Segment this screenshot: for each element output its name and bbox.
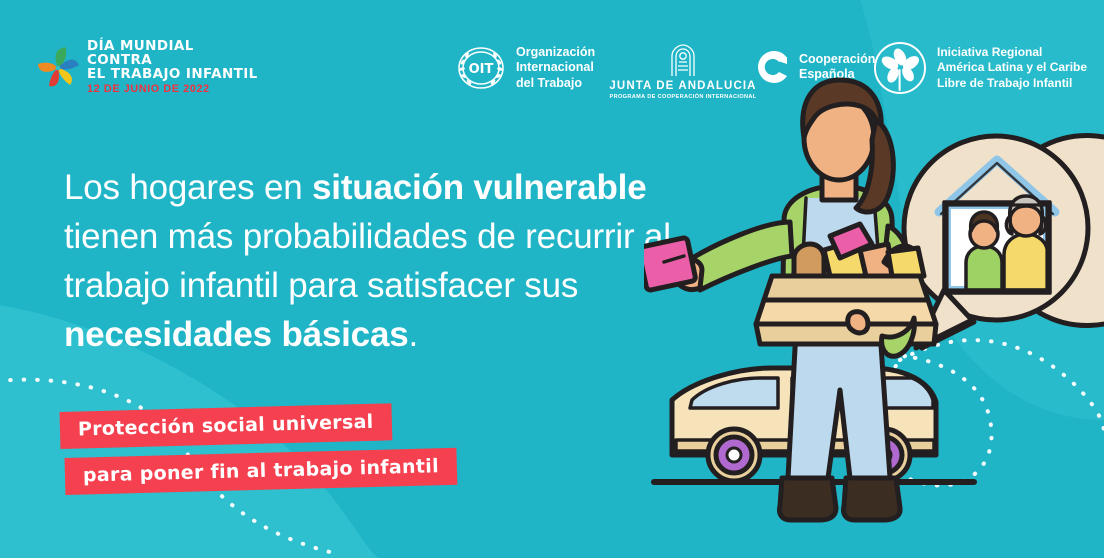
illustration-svg: .ol { stroke:#231f20; stroke-width:5; st… bbox=[644, 0, 1104, 558]
ilo-seal-icon: OIT bbox=[455, 42, 507, 94]
headline-bold-2: necesidades básicas bbox=[64, 315, 408, 354]
headline-part-3: . bbox=[408, 315, 418, 354]
child-figure bbox=[966, 212, 1002, 290]
grandmother-figure bbox=[1004, 196, 1048, 290]
tagline-line-1: Protección social universal bbox=[60, 403, 392, 449]
headline-part-2: tienen más probabilidades de recurrir al… bbox=[64, 217, 671, 305]
ilo-line-3: del Trabajo bbox=[516, 76, 595, 91]
logo-ilo: OIT Organización Internacional del Traba… bbox=[455, 42, 595, 94]
ilo-line-2: Internacional bbox=[516, 60, 595, 75]
headline: Los hogares en situación vulnerable tien… bbox=[64, 163, 704, 359]
ilo-acronym: OIT bbox=[469, 62, 494, 77]
headline-part-1: Los hogares en bbox=[64, 168, 312, 207]
logo-world-day-against-child-labour: Día Mundial Contra El Trabajo Infantil 1… bbox=[36, 40, 258, 95]
headline-bold-1: situación vulnerable bbox=[312, 168, 646, 207]
tagline-line-2: para poner fin al trabajo infantil bbox=[65, 448, 458, 495]
wdacl-date: 12 DE JUNIO DE 2022 bbox=[87, 83, 258, 95]
poster-canvas: Día Mundial Contra El Trabajo Infantil 1… bbox=[0, 0, 1104, 558]
pinwheel-icon bbox=[36, 43, 80, 93]
tagline-banner: Protección social universal para poner f… bbox=[60, 412, 457, 495]
ilo-line-1: Organización bbox=[516, 45, 595, 60]
illustration-woman-with-groceries: .ol { stroke:#231f20; stroke-width:5; st… bbox=[644, 0, 1104, 558]
wdacl-line-3: El Trabajo Infantil bbox=[87, 68, 258, 82]
